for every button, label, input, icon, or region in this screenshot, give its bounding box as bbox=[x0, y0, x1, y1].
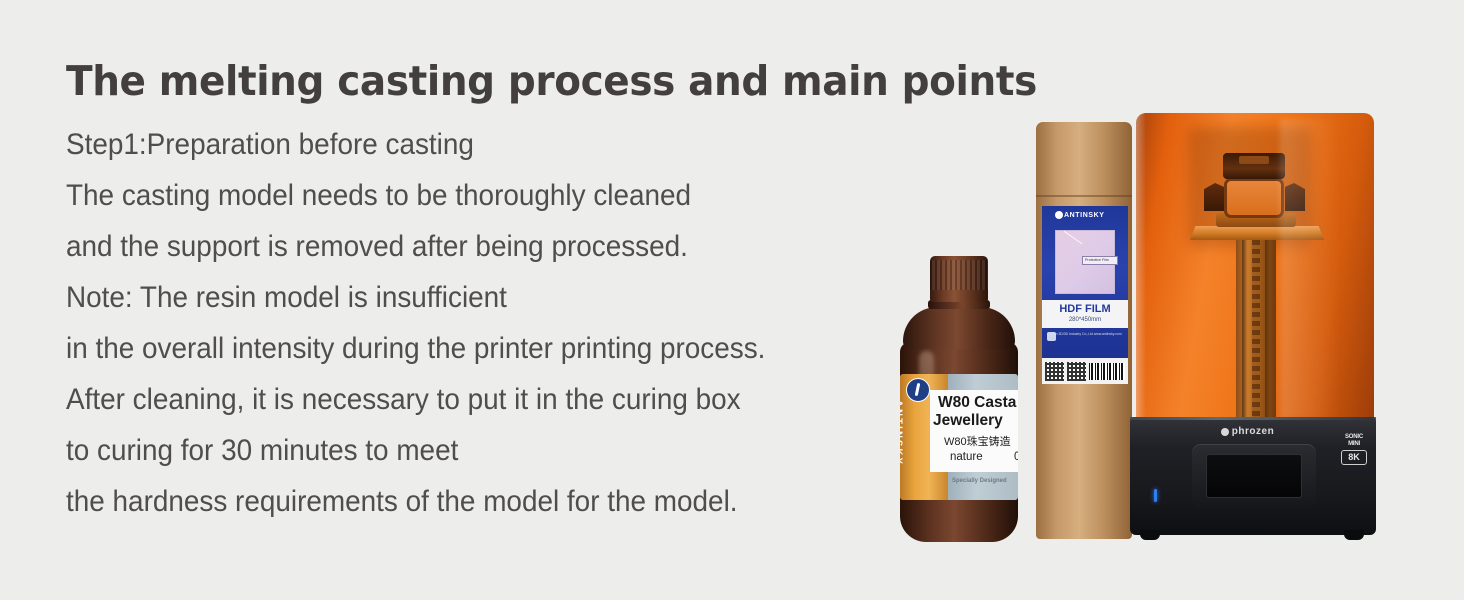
antinsky-logo-icon bbox=[1055, 211, 1063, 219]
tube-name-plate: HDF FILM 280*450mm bbox=[1042, 300, 1128, 328]
barcode-icon bbox=[1089, 363, 1125, 380]
qr-code-icon bbox=[1045, 362, 1064, 381]
model-badge-top: SONIC MINI bbox=[1341, 434, 1367, 447]
base-top-trim bbox=[1130, 417, 1376, 420]
tube-code-strip bbox=[1042, 358, 1128, 384]
printer-lead-screw bbox=[1252, 239, 1260, 425]
qr-code-icon bbox=[1067, 362, 1086, 381]
hood-edge-highlight bbox=[1136, 113, 1146, 425]
tube-brand-text: ANTINSKY bbox=[1064, 212, 1105, 219]
promo-banner: The melting casting process and main poi… bbox=[0, 0, 1464, 600]
resin-chinese-name: W80珠宝铸造 bbox=[944, 433, 1011, 449]
printer-screen-frame bbox=[1192, 444, 1316, 508]
film-product-name: HDF FILM bbox=[1042, 303, 1128, 315]
resin-bottle-image: ANTINSKY W80 Casta Jewellery W80珠宝铸造 nat… bbox=[897, 256, 1021, 542]
hdf-film-tube-image: ANTINSKY Protective Film HDF FILM / RELE… bbox=[1036, 122, 1132, 539]
body-line: to curing for 30 minutes to meet bbox=[66, 425, 866, 476]
film-swatch-tag: Protective Film bbox=[1082, 256, 1118, 265]
bottle-shoulder bbox=[903, 307, 1015, 349]
resin-title-line2: Jewellery bbox=[933, 412, 1003, 430]
printer-carriage bbox=[1223, 153, 1285, 179]
body-line: The casting model needs to be thoroughly… bbox=[66, 170, 866, 221]
printer-brand-text: phrozen bbox=[1130, 426, 1376, 437]
antinsky-logo-icon bbox=[906, 378, 930, 402]
tube-company-text: Taiwan 3D/3D Industry Co.,Ltd www.antins… bbox=[1047, 332, 1122, 337]
bottle-brand-text: ANTINSKY bbox=[900, 400, 904, 496]
label-text-panel: W80 Casta Jewellery W80珠宝铸造 nature 0 bbox=[930, 390, 1018, 472]
printer-model-badge: SONIC MINI 8K bbox=[1341, 434, 1367, 474]
film-dimensions: 280*450mm bbox=[1042, 317, 1128, 323]
printer-touchscreen[interactable] bbox=[1206, 454, 1302, 498]
body-paragraph: Step1:Preparation before casting The cas… bbox=[66, 119, 926, 527]
body-line: Step1:Preparation before casting bbox=[66, 119, 866, 170]
printer-foot-left bbox=[1140, 530, 1160, 540]
page-title: The melting casting process and main poi… bbox=[66, 58, 883, 105]
body-line: the hardness requirements of the model f… bbox=[66, 476, 866, 527]
printer-resin-vat bbox=[1224, 178, 1284, 218]
bottle-cap bbox=[930, 256, 988, 302]
film-swatch-tag-label: Protective Film bbox=[1085, 258, 1109, 262]
resin-size: 0 bbox=[1014, 451, 1018, 463]
bottle-label: ANTINSKY W80 Casta Jewellery W80珠宝铸造 nat… bbox=[900, 374, 1018, 500]
body-line: and the support is removed after being p… bbox=[66, 221, 866, 272]
film-swatch-caption: HDF FILM / RELEASE bbox=[1057, 284, 1093, 288]
model-badge-bottom: 8K bbox=[1341, 450, 1367, 465]
body-line: After cleaning, it is necessary to put i… bbox=[66, 374, 866, 425]
text-column: The melting casting process and main poi… bbox=[66, 58, 926, 527]
tube-cap-seam bbox=[1036, 195, 1132, 197]
resin-variant: nature bbox=[950, 451, 983, 463]
resin-title-line1: W80 Casta bbox=[938, 394, 1016, 412]
resin-3d-printer-image: phrozen SONIC MINI 8K bbox=[1130, 113, 1376, 538]
printer-foot-right bbox=[1344, 530, 1364, 540]
body-line: in the overall intensity during the prin… bbox=[66, 323, 866, 374]
resin-footnote: Specially Designed bbox=[952, 478, 1007, 484]
body-line: Note: The resin model is insufficient bbox=[66, 272, 866, 323]
tube-blue-label: ANTINSKY Protective Film HDF FILM / RELE… bbox=[1042, 206, 1128, 358]
hood-sheen bbox=[1280, 119, 1340, 419]
power-led-indicator bbox=[1154, 489, 1157, 502]
